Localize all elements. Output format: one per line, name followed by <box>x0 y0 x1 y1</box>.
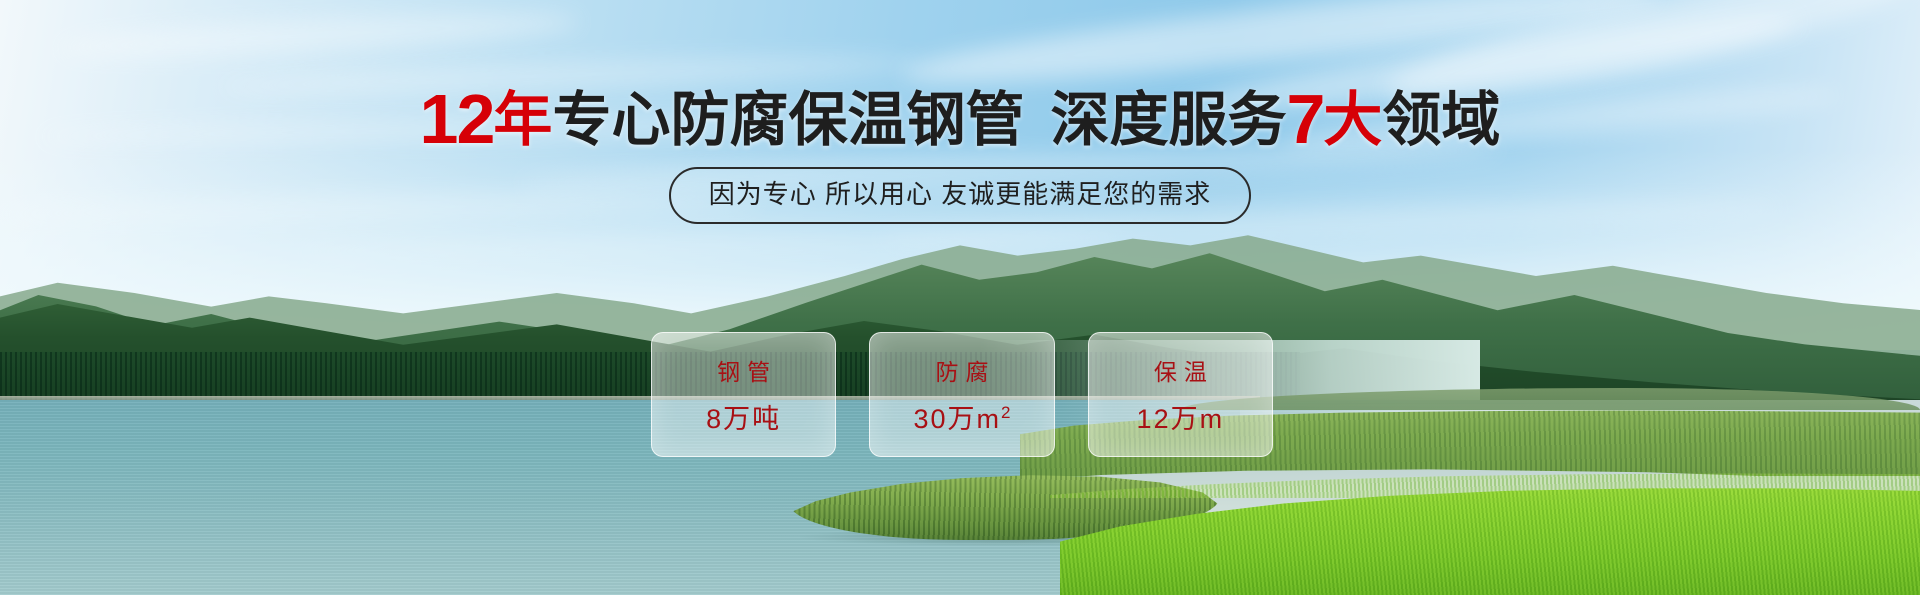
stat-cards: 钢管 8万吨 防腐 30万m2 保温 12万m <box>651 332 1273 457</box>
headline-segment-two: 深度服务 <box>1050 87 1286 153</box>
headline-years-number: 12 <box>420 80 494 158</box>
stat-card-anticorrosion[interactable]: 防腐 30万m2 <box>869 332 1054 457</box>
subtitle-pill: 因为专心 所以用心 友诚更能满足您的需求 <box>669 167 1251 224</box>
stat-card-value: 8万吨 <box>706 397 781 436</box>
stat-card-value-text: 8万吨 <box>706 404 781 434</box>
stat-card-value-text: 12万m <box>1137 404 1225 434</box>
stat-card-label: 防腐 <box>928 353 995 387</box>
subtitle-container: 因为专心 所以用心 友诚更能满足您的需求 <box>0 167 1920 224</box>
banner-content: 12年专心防腐保温钢管深度服务7大领域 因为专心 所以用心 友诚更能满足您的需求… <box>0 0 1920 595</box>
stat-card-value: 12万m <box>1137 397 1225 436</box>
headline: 12年专心防腐保温钢管深度服务7大领域 <box>0 84 1920 154</box>
hero-banner: 12年专心防腐保温钢管深度服务7大领域 因为专心 所以用心 友诚更能满足您的需求… <box>0 0 1920 595</box>
stat-card-label: 钢管 <box>710 353 777 387</box>
stat-card-insulation[interactable]: 保温 12万m <box>1088 332 1273 457</box>
stat-card-value: 30万m2 <box>913 397 1010 436</box>
stat-card-value-text: 30万m <box>913 404 1001 434</box>
headline-fields-number: 7 <box>1286 80 1323 158</box>
stat-card-label: 保温 <box>1147 353 1214 387</box>
headline-segment-one: 专心防腐保温钢管 <box>552 87 1024 153</box>
stat-card-value-superscript: 2 <box>1001 403 1010 422</box>
headline-fields-unit: 大 <box>1323 87 1382 153</box>
headline-years-unit: 年 <box>493 87 552 153</box>
stat-card-steel-pipe[interactable]: 钢管 8万吨 <box>651 332 836 457</box>
headline-segment-three: 领域 <box>1382 87 1500 153</box>
